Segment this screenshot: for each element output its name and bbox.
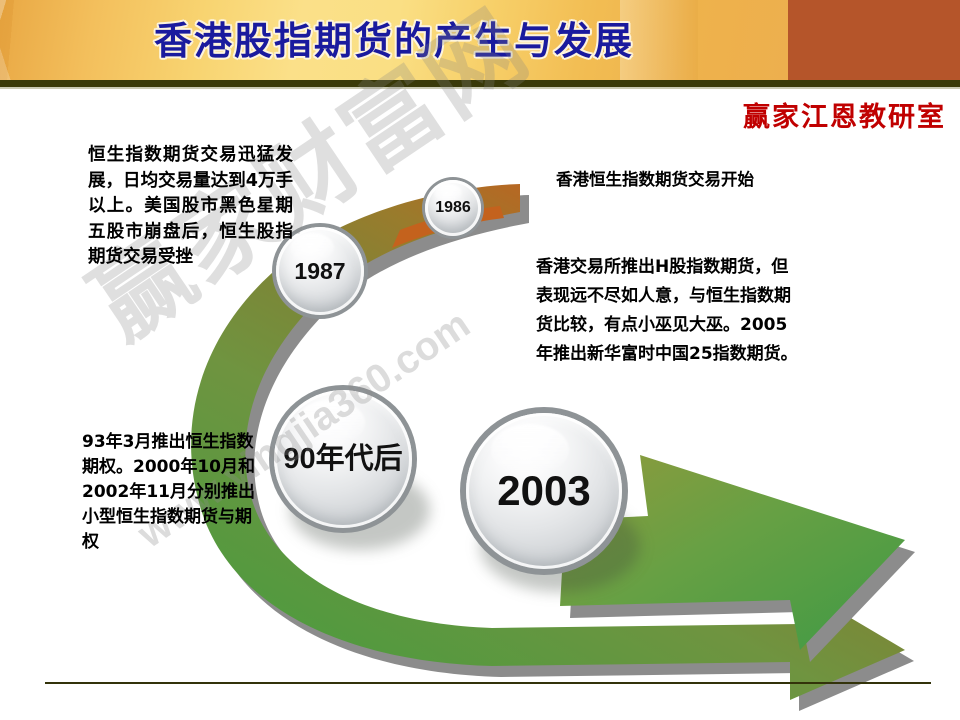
slide-canvas: 香港股指期货的产生与发展 赢家江恩教研室 bbox=[0, 0, 960, 720]
timeline-node-90s[interactable]: 90年代后 bbox=[274, 390, 412, 528]
timeline-node-2003[interactable]: 2003 bbox=[466, 413, 622, 569]
callout-left-bottom: 93年3月推出恒生指数期权。2000年10月和2002年11月分别推出小型恒生指… bbox=[82, 430, 262, 555]
footer-rule bbox=[45, 682, 931, 684]
callout-right-top: 香港恒生指数期货交易开始 bbox=[505, 168, 805, 192]
timeline-node-1986[interactable]: 1986 bbox=[425, 180, 481, 236]
timeline-node-1987-label: 1987 bbox=[294, 259, 345, 283]
timeline-node-90s-label: 90年代后 bbox=[283, 444, 402, 474]
callout-right-body: 香港交易所推出H股指数期货，但表现远不尽如人意，与恒生指数期货比较，有点小巫见大… bbox=[536, 253, 801, 369]
callout-left-top: 恒生指数期货交易迅猛发展，日均交易量达到4万手以上。美国股市黑色星期五股市崩盘后… bbox=[88, 143, 293, 271]
timeline-node-2003-label: 2003 bbox=[497, 469, 590, 513]
timeline-spiral-arrow bbox=[0, 0, 960, 720]
timeline-node-1986-label: 1986 bbox=[435, 200, 471, 217]
